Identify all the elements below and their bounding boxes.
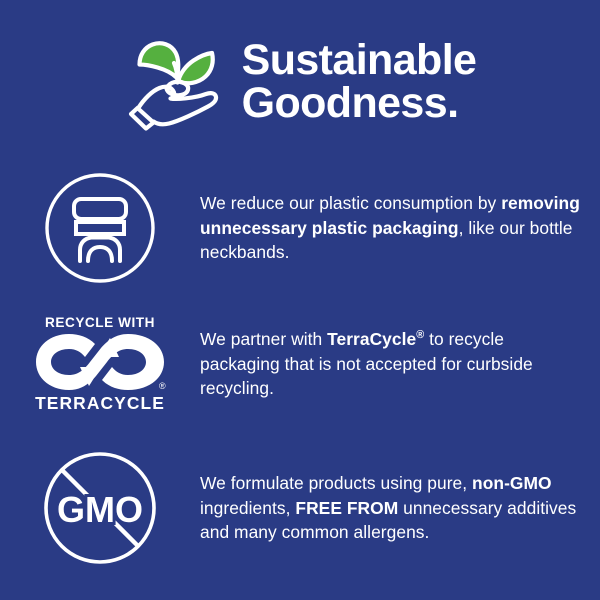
feature-icon-cell: GMO (0, 448, 200, 568)
feature-description-non-gmo: We formulate products using pure, non-GM… (200, 471, 582, 546)
gmo-icon-label: GMO (57, 489, 143, 530)
feature-icon-cell (0, 171, 200, 285)
feature-row-terracycle: RECYCLE WITH ® TERRACYCL (0, 302, 600, 426)
recycle-infinity-loop-icon: ® (33, 331, 167, 393)
hand-holding-sprout-icon (124, 33, 228, 131)
feature-description-plastic: We reduce our plastic consumption by rem… (200, 191, 582, 266)
sustainability-infographic: Sustainable Goodness. We re (0, 0, 600, 600)
feature-description-terracycle: We partner with TerraCycle® to recycle p… (200, 327, 582, 402)
no-gmo-circle-slash-icon: GMO (40, 448, 160, 568)
feature-icon-cell: RECYCLE WITH ® TERRACYCL (0, 316, 200, 413)
terracycle-logo: RECYCLE WITH ® TERRACYCL (30, 316, 170, 413)
feature-text-cell: We reduce our plastic consumption by rem… (200, 173, 600, 282)
header: Sustainable Goodness. (0, 26, 600, 138)
terracycle-top-label: RECYCLE WITH (45, 316, 155, 330)
svg-text:®: ® (159, 381, 166, 391)
bottle-neckband-circle-icon (43, 171, 157, 285)
terracycle-bottom-label: TERRACYCLE (35, 395, 165, 412)
page-title: Sustainable Goodness. (242, 39, 477, 124)
page-title-line-2: Goodness. (242, 82, 477, 125)
feature-text-cell: We formulate products using pure, non-GM… (200, 453, 600, 562)
feature-text-cell: We partner with TerraCycle® to recycle p… (200, 309, 600, 418)
feature-row-plastic-reduction: We reduce our plastic consumption by rem… (0, 166, 600, 290)
feature-row-non-gmo: GMO We formulate products using pure, no… (0, 438, 600, 578)
page-title-line-1: Sustainable (242, 39, 477, 82)
